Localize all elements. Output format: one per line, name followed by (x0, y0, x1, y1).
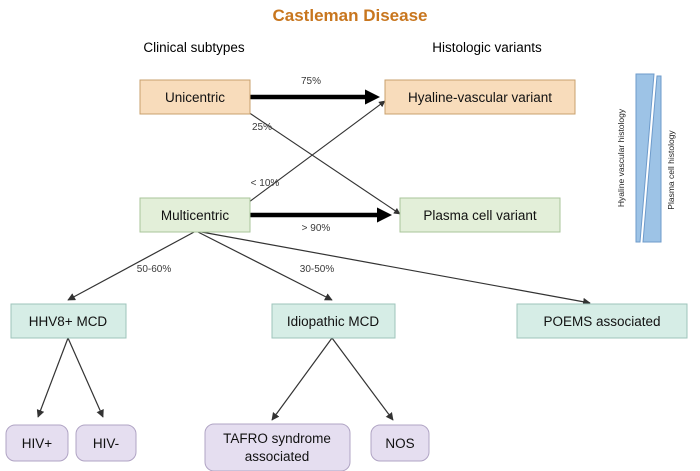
node-plasma-cell-variant[interactable]: Plasma cell variant (400, 198, 560, 232)
node-tafro-label-line2: associated (245, 449, 310, 464)
node-plasma-cell-label: Plasma cell variant (423, 208, 537, 223)
edge-label-25-percent: 25% (252, 122, 272, 133)
node-nos[interactable]: NOS (371, 425, 429, 461)
node-nos-label: NOS (385, 436, 414, 451)
node-hhv8-mcd-label: HHV8+ MCD (29, 314, 108, 329)
node-idiopathic-mcd-label: Idiopathic MCD (287, 314, 380, 329)
edge-multicentric-to-poems (196, 231, 590, 303)
edge-hhv8-to-hiv-positive (38, 338, 68, 417)
edge-label-75-percent: 75% (301, 76, 321, 87)
edge-multicentric-to-hhv8-mcd (68, 231, 196, 300)
node-hyaline-vascular-label: Hyaline-vascular variant (408, 90, 552, 105)
edge-label-30-50-percent: 30-50% (300, 264, 335, 275)
node-hiv-negative[interactable]: HIV- (76, 425, 136, 461)
node-tafro-label-line1: TAFRO syndrome (223, 431, 331, 446)
legend-label-hyaline-vascular-histology: Hyaline vascular histology (616, 108, 626, 207)
column-header-histologic-variants: Histologic variants (432, 40, 542, 55)
histology-gradient-legend: Hyaline vascular histology Plasma cell h… (616, 74, 676, 242)
castleman-disease-diagram: Castleman Disease Clinical subtypes Hist… (0, 0, 700, 471)
edge-label-50-60-percent: 50-60% (137, 264, 172, 275)
edge-hhv8-to-hiv-negative (68, 338, 103, 417)
node-poems-associated[interactable]: POEMS associated (517, 304, 687, 338)
node-unicentric-label: Unicentric (165, 90, 225, 105)
node-hiv-negative-label: HIV- (93, 436, 119, 451)
node-tafro-syndrome-associated[interactable]: TAFRO syndrome associated (205, 424, 350, 471)
node-hhv8-mcd[interactable]: HHV8+ MCD (11, 304, 126, 338)
node-multicentric[interactable]: Multicentric (140, 198, 250, 232)
node-multicentric-label: Multicentric (161, 208, 230, 223)
page-title: Castleman Disease (273, 6, 428, 25)
column-header-clinical-subtypes: Clinical subtypes (143, 40, 245, 55)
edge-idiopathic-to-tafro (272, 338, 332, 420)
edge-label-less-than-10-percent: < 10% (251, 178, 280, 189)
node-unicentric[interactable]: Unicentric (140, 80, 250, 114)
node-hiv-positive[interactable]: HIV+ (6, 425, 68, 461)
node-hyaline-vascular-variant[interactable]: Hyaline-vascular variant (385, 80, 575, 114)
legend-label-plasma-cell-histology: Plasma cell histology (666, 130, 676, 210)
node-poems-label: POEMS associated (543, 314, 660, 329)
node-idiopathic-mcd[interactable]: Idiopathic MCD (272, 304, 395, 338)
node-hiv-positive-label: HIV+ (22, 436, 53, 451)
edge-label-greater-than-90-percent: > 90% (302, 223, 331, 234)
edge-idiopathic-to-nos (332, 338, 393, 420)
